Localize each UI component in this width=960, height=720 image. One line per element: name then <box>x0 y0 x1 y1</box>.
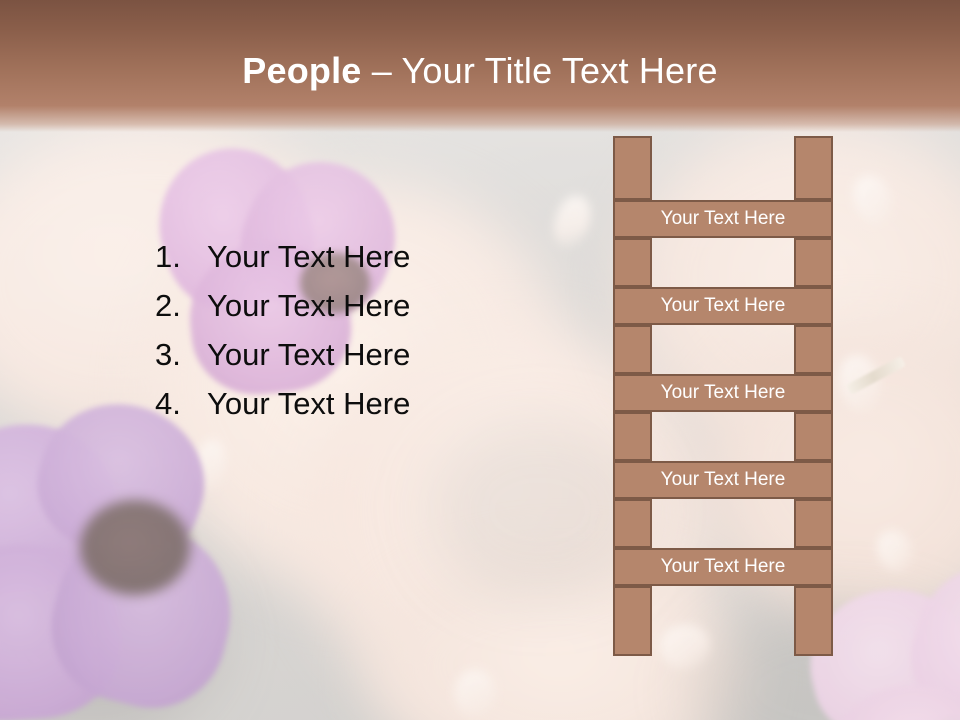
list-item[interactable]: 4. Your Text Here <box>155 379 555 428</box>
list-item[interactable]: 3. Your Text Here <box>155 330 555 379</box>
ladder-rail-segment <box>613 499 652 548</box>
ladder-rail-segment <box>794 325 833 374</box>
ladder-rail-segment <box>613 238 652 287</box>
numbered-list: 1. Your Text Here 2. Your Text Here 3. Y… <box>155 232 555 428</box>
ladder-rail-segment <box>613 586 652 656</box>
list-item[interactable]: 1. Your Text Here <box>155 232 555 281</box>
list-item-number: 3. <box>155 330 207 379</box>
list-item-label: Your Text Here <box>207 232 410 281</box>
list-item[interactable]: 2. Your Text Here <box>155 281 555 330</box>
ladder-rail-segment <box>613 325 652 374</box>
ladder-rail-segment <box>794 136 833 200</box>
ladder-rung[interactable]: Your Text Here <box>613 287 833 325</box>
ladder-rung[interactable]: Your Text Here <box>613 461 833 499</box>
page-title: People – Your Title Text Here <box>0 50 960 92</box>
ladder-rung[interactable]: Your Text Here <box>613 548 833 586</box>
list-item-label: Your Text Here <box>207 379 410 428</box>
page-title-rest: – Your Title Text Here <box>362 50 718 91</box>
list-item-label: Your Text Here <box>207 330 410 379</box>
list-item-number: 1. <box>155 232 207 281</box>
list-item-number: 4. <box>155 379 207 428</box>
list-item-number: 2. <box>155 281 207 330</box>
ladder-rung[interactable]: Your Text Here <box>613 374 833 412</box>
slide-canvas: People – Your Title Text Here 1. Your Te… <box>0 0 960 720</box>
list-item-label: Your Text Here <box>207 281 410 330</box>
ladder-rail-segment <box>794 412 833 461</box>
ladder-rail-segment <box>794 499 833 548</box>
ladder-rail-segment <box>613 412 652 461</box>
ladder-rail-segment <box>613 136 652 200</box>
ladder-diagram: Your Text Here Your Text Here Your Text … <box>613 136 833 656</box>
ladder-rail-segment <box>794 586 833 656</box>
page-title-bold: People <box>242 50 361 91</box>
ladder-rail-segment <box>794 238 833 287</box>
ladder-rung[interactable]: Your Text Here <box>613 200 833 238</box>
